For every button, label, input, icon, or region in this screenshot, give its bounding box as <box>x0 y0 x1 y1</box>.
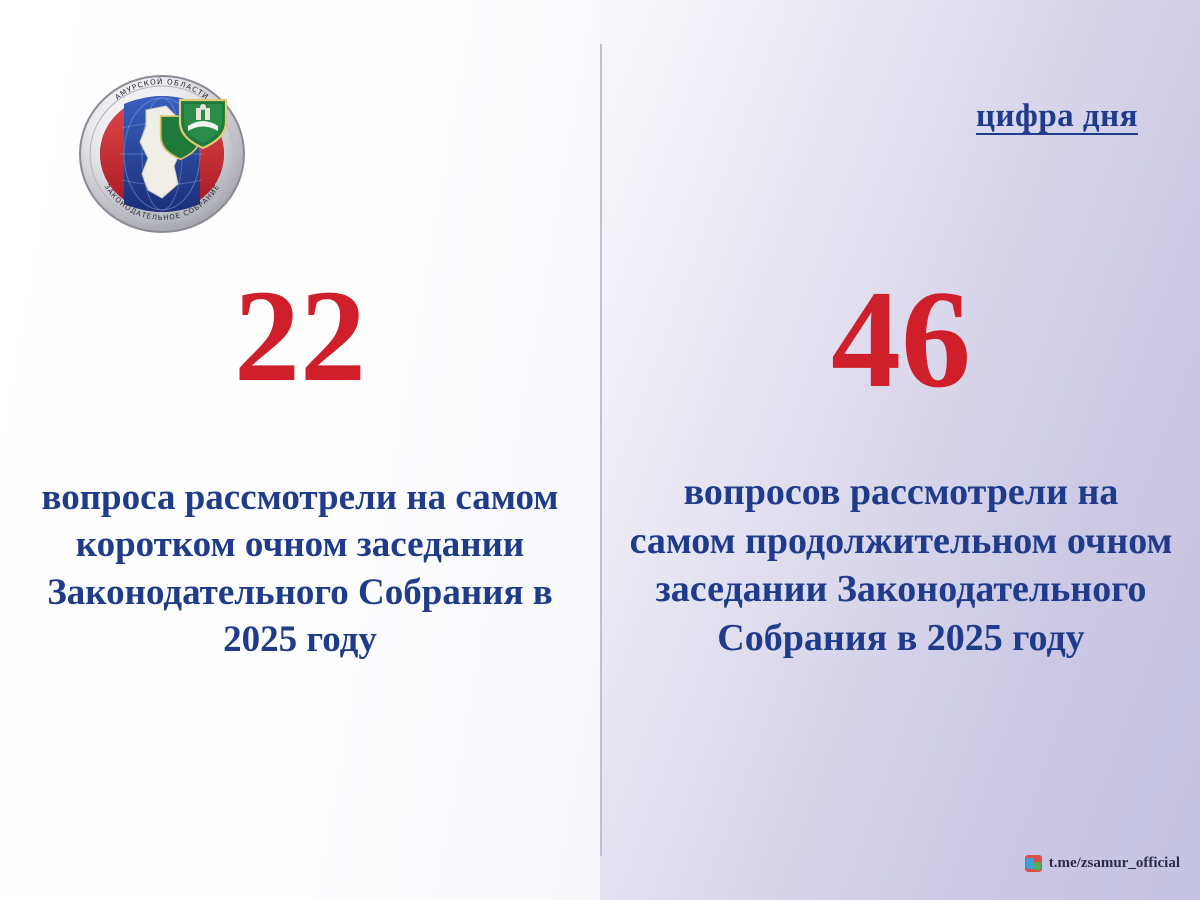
emblem: АМУРСКОЙ ОБЛАСТИ ЗАКОНОДАТЕЛЬНОЕ СОБРАНИ… <box>62 62 262 242</box>
footer-credit: t.me/zsamur_official <box>1025 855 1180 872</box>
stat-caption-right: вопросов рассмотрели на самом продолжите… <box>612 468 1190 663</box>
coat-of-arms-icon: АМУРСКОЙ ОБЛАСТИ ЗАКОНОДАТЕЛЬНОЕ СОБРАНИ… <box>62 62 262 242</box>
stat-number-left: 22 <box>10 270 590 402</box>
telegram-icon <box>1025 855 1042 872</box>
footer-handle[interactable]: t.me/zsamur_official <box>1049 855 1180 872</box>
header-link-figure-of-the-day[interactable]: цифра дня <box>976 98 1138 135</box>
stat-caption-left: вопроса рассмотрели на самом коротком оч… <box>10 474 590 663</box>
column-divider <box>600 44 602 856</box>
stat-column-right: 46 вопросов рассмотрели на самом продолж… <box>612 270 1190 663</box>
poster-canvas: АМУРСКОЙ ОБЛАСТИ ЗАКОНОДАТЕЛЬНОЕ СОБРАНИ… <box>0 0 1200 900</box>
stat-number-right: 46 <box>612 270 1190 410</box>
stat-column-left: 22 вопроса рассмотрели на самом коротком… <box>10 270 590 663</box>
